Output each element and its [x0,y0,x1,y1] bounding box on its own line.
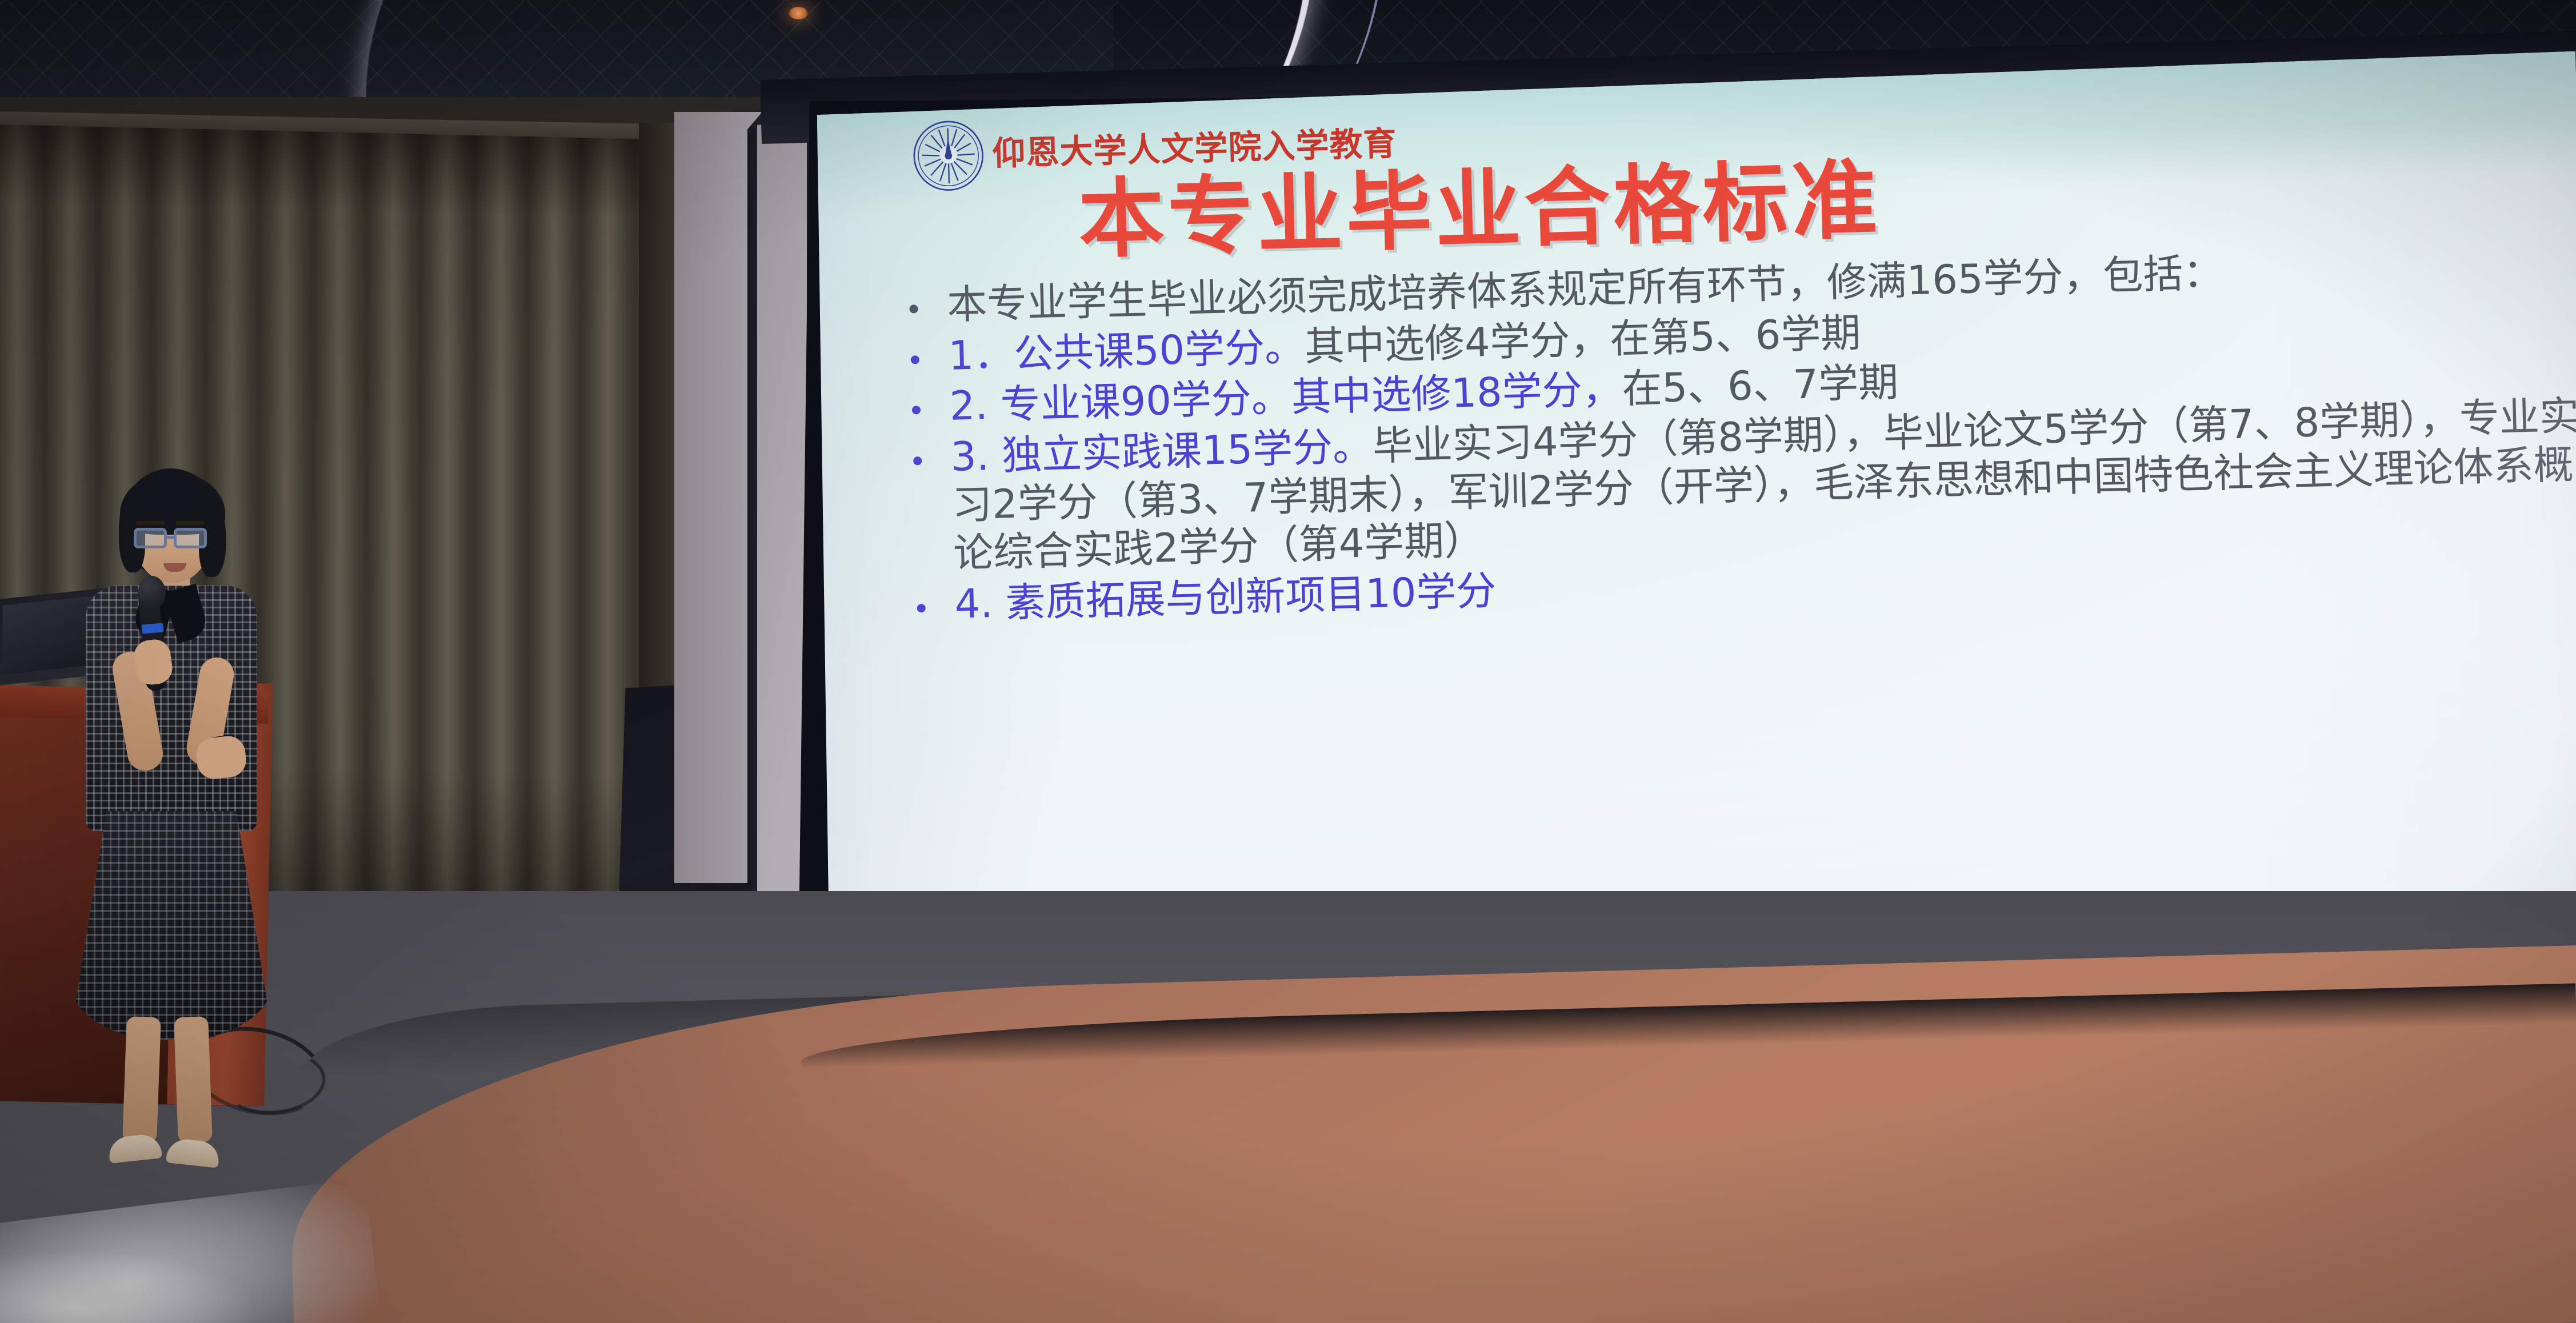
bullet-dot-icon [917,604,926,612]
curtain-top-shadow [0,125,686,220]
slide-body: 本专业学生毕业必须完成培养体系规定所有环节，修满165学分，包括： 1．公共课5… [909,239,2576,632]
bullet-segment: 3. 独立实践课15学分。 [950,423,1373,480]
bullet-dot-icon [911,355,919,364]
presenter-shoe-right [166,1137,221,1168]
presenter [51,468,291,1177]
presenter-eyebrow-left [136,521,165,525]
glasses-bridge-icon [166,536,176,539]
slide-title: 本专业毕业合格标准 [1077,131,1882,275]
presenter-torso [86,586,257,831]
bullet-segment: 在5、6、7学期 [1622,359,1899,412]
glasses-lens-left-icon [134,528,167,548]
presenter-skirt [70,811,273,1040]
microphone-band-icon [141,623,163,634]
bullet-segment: 4. 素质拓展与创新项目10学分 [954,567,1497,628]
bullet-dot-icon [912,406,921,415]
bullet-dot-icon [909,304,918,313]
university-logo-icon [911,119,985,193]
presenter-leg-left [122,1016,161,1143]
presenter-eyebrow-right [176,521,205,525]
floor-light-highlight [0,1251,251,1323]
presenter-leg-right [174,1016,213,1143]
lecture-hall-scene: 仰恩大学人文学院入学教育 本专业毕业合格标准 本专业学生毕业必须完成培养体系规定… [0,0,2576,1323]
bullet-dot-icon [913,456,922,465]
glasses-lens-right-icon [174,528,207,548]
bullet-segment: 1．公共课50学分。 [948,323,1305,379]
ceiling-spotlight-icon [789,7,808,19]
